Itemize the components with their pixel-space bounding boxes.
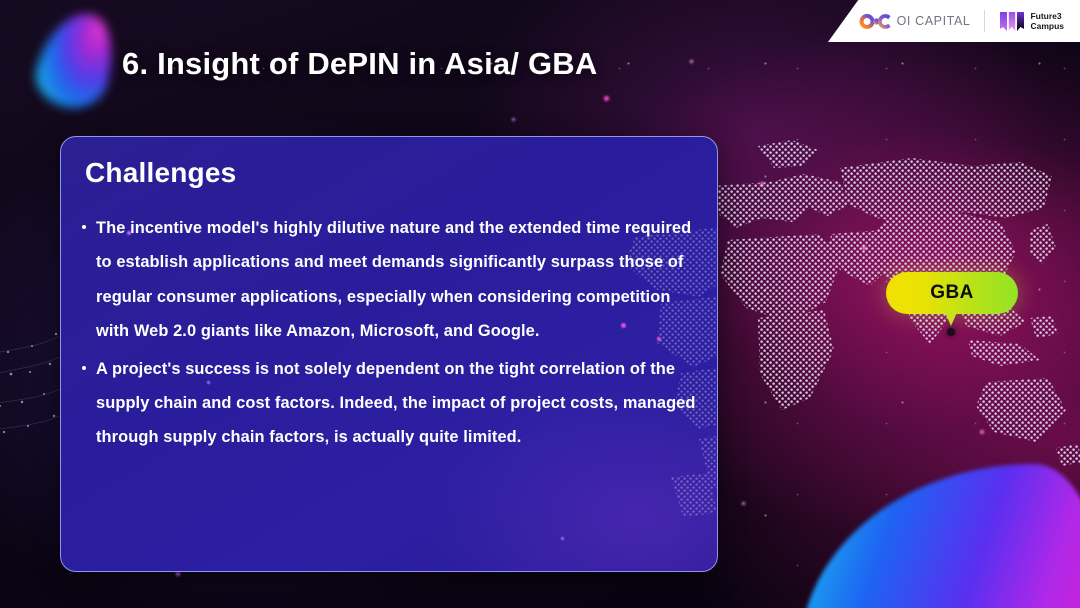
logo-divider bbox=[984, 10, 985, 32]
list-item-text: The incentive model's highly dilutive na… bbox=[96, 219, 691, 340]
bullet-dot-icon bbox=[82, 225, 86, 229]
gba-marker-label: GBA bbox=[930, 282, 973, 304]
future3-logo-line2: Campus bbox=[1030, 21, 1064, 32]
oi-capital-logo[interactable]: OI CAPITAL bbox=[858, 12, 971, 31]
card-sparkle bbox=[561, 537, 564, 540]
list-item-text: A project's success is not solely depend… bbox=[96, 360, 696, 447]
list-item: The incentive model's highly dilutive na… bbox=[79, 211, 697, 349]
future3-campus-logo[interactable]: Future3 Campus bbox=[999, 11, 1064, 32]
page-title: 6. Insight of DePIN in Asia/ GBA bbox=[122, 46, 597, 82]
challenges-bullet-list: The incentive model's highly dilutive na… bbox=[79, 211, 697, 458]
card-heading: Challenges bbox=[85, 157, 236, 189]
gba-marker-pointer-icon bbox=[944, 310, 958, 326]
future3-logo-line1: Future3 bbox=[1030, 11, 1064, 22]
gba-marker-pill[interactable]: GBA bbox=[886, 272, 1018, 314]
oi-capital-logo-text: OI CAPITAL bbox=[897, 14, 971, 28]
header-logo-banner: OI CAPITAL bbox=[828, 0, 1080, 42]
bullet-dot-icon bbox=[82, 366, 86, 370]
list-item: A project's success is not solely depend… bbox=[79, 352, 697, 455]
challenges-card: Challenges The incentive model's highly … bbox=[60, 136, 718, 572]
gba-marker-point-icon bbox=[947, 328, 955, 336]
oic-logo-icon bbox=[858, 12, 892, 31]
slide-canvas: OI CAPITAL bbox=[0, 0, 1080, 608]
future3-campus-logo-icon bbox=[999, 11, 1025, 32]
gba-map-marker[interactable]: GBA bbox=[886, 272, 1018, 314]
